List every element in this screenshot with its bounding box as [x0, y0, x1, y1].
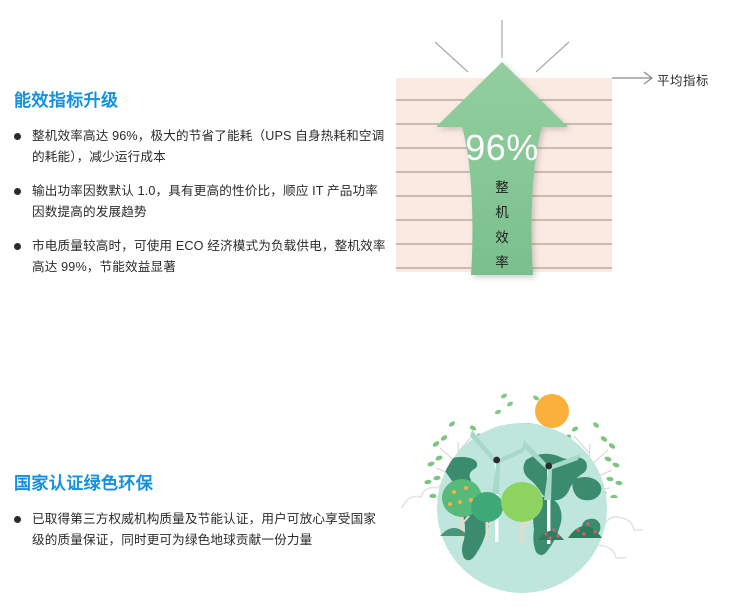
list-item: 市电质量较高时，可使用 ECO 经济模式为负载供电，整机效率高达 99%，节能效…	[14, 236, 386, 278]
leader-line-left	[435, 42, 468, 72]
bullet-list-efficiency: 整机效率高达 96%，极大的节省了能耗（UPS 自身热耗和空调的耗能），减少运行…	[14, 126, 386, 278]
percent-value-label: 96%	[465, 127, 539, 168]
list-item-text: 市电质量较高时，可使用 ECO 经济模式为负载供电，整机效率高达 99%，节能效…	[32, 239, 386, 274]
leader-line-right	[536, 42, 569, 72]
bullet-list-green: 已取得第三方权威机构质量及节能认证，用户可放心享受国家级的质量保证，同时更可为绿…	[14, 509, 386, 551]
list-item-text: 整机效率高达 96%，极大的节省了能耗（UPS 自身热耗和空调的耗能），减少运行…	[32, 129, 384, 164]
sun-icon	[535, 394, 569, 428]
bullet-dot-icon	[14, 516, 21, 523]
bullet-dot-icon	[14, 243, 21, 250]
list-item-text: 输出功率因数默认 1.0，具有更高的性价比，顺应 IT 产品功率因数提高的发展趋…	[32, 184, 378, 219]
svg-text:整: 整	[495, 180, 509, 195]
section-heading-green: 国家认证绿色环保	[14, 473, 386, 495]
average-indicator-label: 平均指标	[657, 71, 709, 89]
average-indicator-pointer	[612, 72, 652, 84]
svg-text:机: 机	[495, 205, 509, 220]
bullet-dot-icon	[14, 133, 21, 140]
eco-globe-graphic	[400, 368, 645, 613]
list-item: 输出功率因数默认 1.0，具有更高的性价比，顺应 IT 产品功率因数提高的发展趋…	[14, 181, 386, 223]
efficiency-arrow-graphic: 96% 整 机 效 率	[390, 14, 734, 300]
bullet-dot-icon	[14, 188, 21, 195]
infographic-page: 能效指标升级 整机效率高达 96%，极大的节省了能耗（UPS 自身热耗和空调的耗…	[0, 0, 734, 613]
list-item: 整机效率高达 96%，极大的节省了能耗（UPS 自身热耗和空调的耗能），减少运行…	[14, 126, 386, 168]
svg-text:效: 效	[495, 230, 509, 245]
section-green-certification: 国家认证绿色环保 已取得第三方权威机构质量及节能认证，用户可放心享受国家级的质量…	[14, 473, 386, 551]
section-heading-efficiency: 能效指标升级	[14, 90, 386, 112]
list-item-text: 已取得第三方权威机构质量及节能认证，用户可放心享受国家级的质量保证，同时更可为绿…	[32, 512, 376, 547]
list-item: 已取得第三方权威机构质量及节能认证，用户可放心享受国家级的质量保证，同时更可为绿…	[14, 509, 386, 551]
section-efficiency: 能效指标升级 整机效率高达 96%，极大的节省了能耗（UPS 自身热耗和空调的耗…	[14, 90, 386, 278]
svg-text:率: 率	[495, 254, 509, 270]
